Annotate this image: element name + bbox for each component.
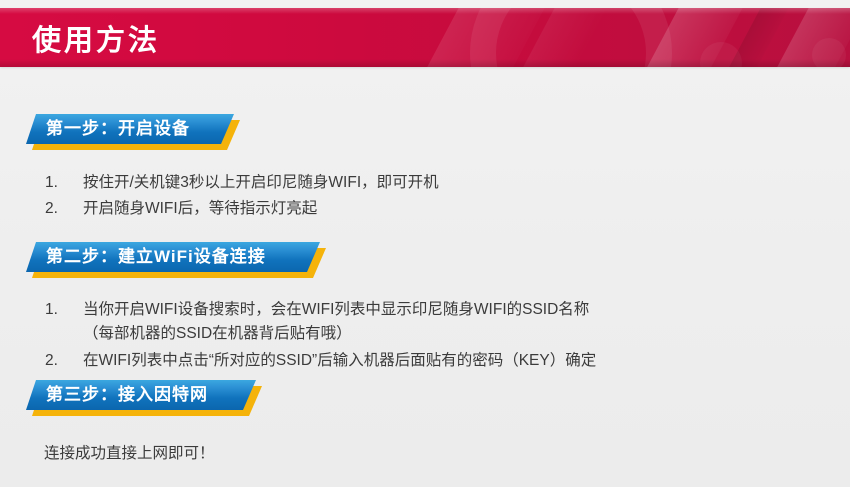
list-item-continuation: （每部机器的SSID在机器背后贴有哦） — [83, 321, 352, 347]
decorative-stripe-5 — [755, 8, 850, 67]
step-3-badge: 第三步：接入因特网 — [26, 380, 256, 412]
list-item: 1. 按住开/关机键3秒以上开启印尼随身WIFI，即可开机 — [45, 170, 439, 192]
step-1-badge-label: 第一步：开启设备 — [26, 114, 216, 144]
list-item-number: 1. — [45, 301, 83, 319]
list-item: 2. 在WIFI列表中点击“所对应的SSID”后输入机器后面贴有的密码（KEY）… — [45, 348, 596, 370]
decorative-dot-1 — [700, 42, 742, 67]
decorative-stripe-1 — [405, 8, 560, 67]
decorative-stripe-2 — [501, 8, 624, 67]
page-header-banner: 使用方法 — [0, 8, 850, 67]
list-item: 2. 开启随身WIFI后，等待指示灯亮起 — [45, 196, 317, 218]
list-item-text: 按住开/关机键3秒以上开启印尼随身WIFI，即可开机 — [83, 170, 439, 192]
decorative-stripe-4 — [707, 8, 804, 67]
list-item-number: 2. — [45, 352, 83, 370]
list-item-number: 2. — [45, 200, 83, 218]
step-3-badge-label: 第三步：接入因特网 — [26, 380, 234, 410]
list-item-number: 1. — [45, 174, 83, 192]
list-item-text: 开启随身WIFI后，等待指示灯亮起 — [83, 196, 317, 218]
list-item-text: 当你开启WIFI设备搜索时，会在WIFI列表中显示印尼随身WIFI的SSID名称 — [83, 297, 589, 319]
step-3-note: 连接成功直接上网即可！ — [44, 441, 215, 467]
instructions-page: 使用方法 第一步：开启设备 1. 按住开/关机键3秒以上开启印尼随身WIFI，即… — [0, 0, 850, 487]
list-item-text: 在WIFI列表中点击“所对应的SSID”后输入机器后面贴有的密码（KEY）确定 — [83, 348, 596, 370]
decorative-stripe-3 — [625, 8, 758, 67]
list-item: 1. 当你开启WIFI设备搜索时，会在WIFI列表中显示印尼随身WIFI的SSI… — [45, 297, 589, 319]
page-title: 使用方法 — [32, 17, 160, 59]
banner-top-gloss — [0, 8, 850, 14]
step-2-badge-label: 第二步：建立WiFi设备连接 — [26, 242, 292, 272]
decorative-arc — [470, 8, 672, 67]
step-1-badge: 第一步：开启设备 — [26, 114, 234, 146]
decorative-dot-2 — [812, 38, 846, 67]
step-2-badge: 第二步：建立WiFi设备连接 — [26, 242, 320, 274]
banner-bottom-shadow — [0, 59, 850, 67]
